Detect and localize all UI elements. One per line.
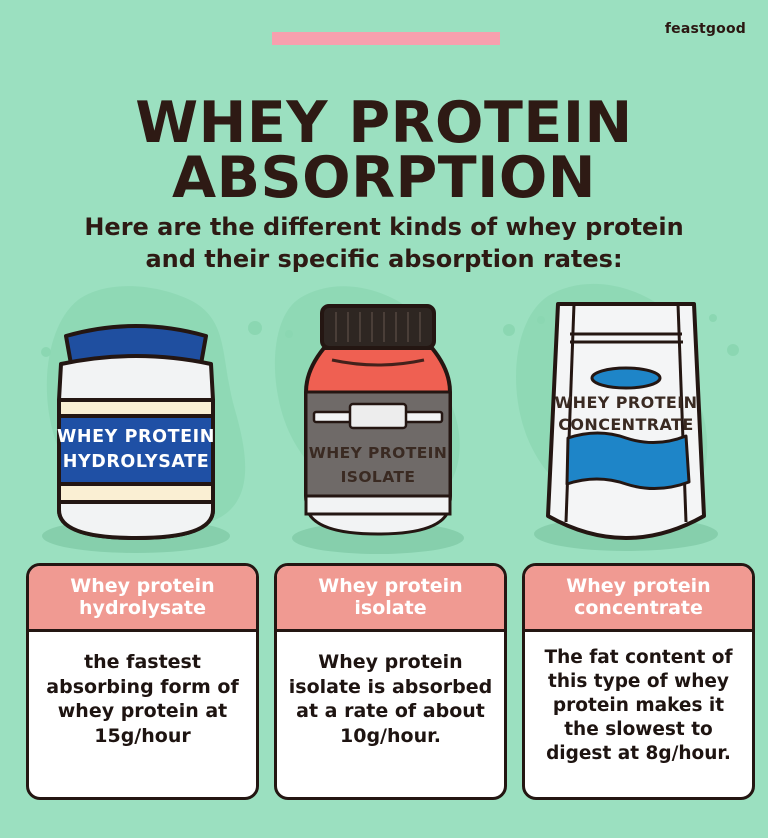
page-subtitle: Here are the different kinds of whey pro…: [0, 212, 768, 275]
whey-protein-isolate-bottle-icon: WHEY PROTEIN ISOLATE: [250, 290, 506, 560]
page-title: WHEY PROTEIN ABSORPTION: [0, 96, 768, 207]
product-illustrations: WHEY PROTEIN HYDROLYSATE: [0, 290, 768, 560]
accent-bar: [272, 32, 500, 45]
product-illustration-hydrolysate: WHEY PROTEIN HYDROLYSATE: [8, 290, 264, 560]
pouch-label-line-1: WHEY PROTEIN: [555, 393, 698, 412]
bottle-label-line-1: WHEY PROTEIN: [309, 444, 447, 462]
whey-protein-concentrate-pouch-icon: WHEY PROTEIN CONCENTRATE: [498, 290, 754, 560]
card-hydrolysate-body: the fastest absorbing form of whey prote…: [29, 632, 256, 797]
bottle-label-line-2: ISOLATE: [341, 468, 416, 486]
card-hydrolysate: Whey protein hydrolysate the fastest abs…: [26, 563, 259, 800]
card-hydrolysate-header: Whey protein hydrolysate: [29, 566, 256, 632]
title-line-2: ABSORPTION: [0, 151, 768, 206]
product-illustration-concentrate: WHEY PROTEIN CONCENTRATE: [498, 290, 754, 560]
card-concentrate: Whey protein concentrate The fat content…: [522, 563, 755, 800]
infographic-canvas: feastgood WHEY PROTEIN ABSORPTION Here a…: [0, 0, 768, 838]
card-hydrolysate-heading-line-2: hydrolysate: [35, 597, 250, 619]
pouch-label-line-2: CONCENTRATE: [558, 415, 693, 434]
brand-logo: feastgood: [665, 21, 746, 37]
card-isolate-heading-line-2: isolate: [283, 597, 498, 619]
subtitle-line-2: and their specific absorption rates:: [0, 244, 768, 276]
card-isolate-body: Whey protein isolate is absorbed at a ra…: [277, 632, 504, 797]
info-cards: Whey protein hydrolysate the fastest abs…: [0, 563, 768, 808]
subtitle-line-1: Here are the different kinds of whey pro…: [0, 212, 768, 244]
card-concentrate-header: Whey protein concentrate: [525, 566, 752, 632]
card-concentrate-heading-line-1: Whey protein: [531, 575, 746, 597]
jar-label-line-1: WHEY PROTEIN: [57, 427, 215, 447]
whey-protein-hydrolysate-jar-icon: WHEY PROTEIN HYDROLYSATE: [8, 290, 264, 560]
card-isolate-heading-line-1: Whey protein: [283, 575, 498, 597]
jar-label-line-2: HYDROLYSATE: [63, 452, 210, 472]
card-concentrate-body: The fat content of this type of whey pro…: [525, 632, 752, 797]
card-isolate-header: Whey protein isolate: [277, 566, 504, 632]
card-concentrate-heading-line-2: concentrate: [531, 597, 746, 619]
product-illustration-isolate: WHEY PROTEIN ISOLATE: [250, 290, 506, 560]
card-hydrolysate-heading-line-1: Whey protein: [35, 575, 250, 597]
card-isolate: Whey protein isolate Whey protein isolat…: [274, 563, 507, 800]
